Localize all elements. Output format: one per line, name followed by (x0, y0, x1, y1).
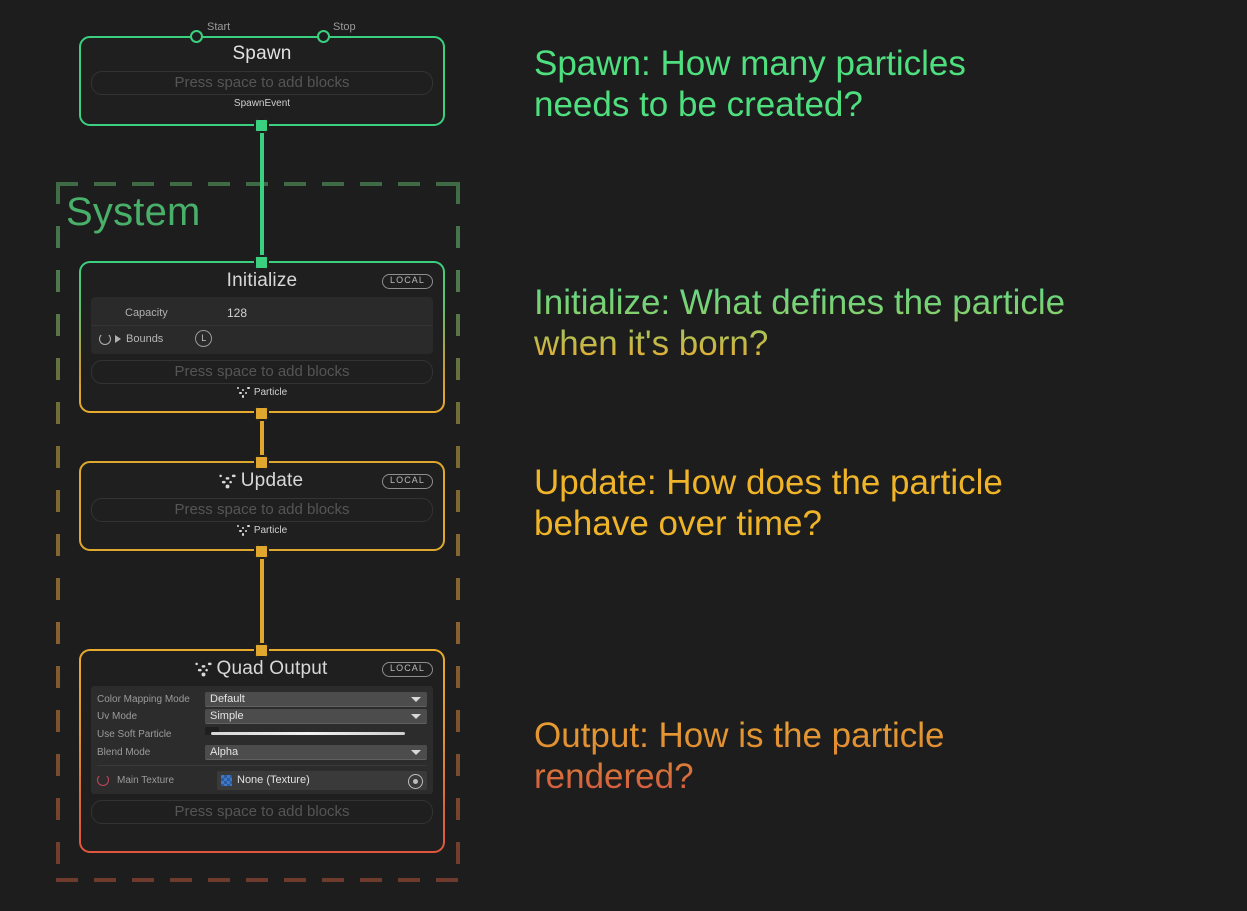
output-add-blocks[interactable]: Press space to add blocks (91, 800, 433, 824)
connector-spawn-out[interactable] (254, 118, 269, 133)
output-title-label: Quad Output (217, 658, 328, 680)
node-quad-output[interactable]: Quad Output LOCAL Color Mapping Mode Def… (79, 649, 445, 853)
chevron-down-icon (411, 697, 421, 702)
refresh-icon[interactable] (99, 333, 111, 345)
main-texture-label: Main Texture (117, 775, 217, 786)
initialize-add-blocks[interactable]: Press space to add blocks (91, 360, 433, 384)
particle-icon (219, 474, 235, 488)
use-soft-particle-toggle[interactable] (205, 727, 427, 742)
texture-thumbnail-icon (221, 775, 232, 786)
divider (97, 765, 427, 766)
main-texture-field[interactable]: None (Texture) (217, 771, 427, 790)
node-spawn[interactable]: Spawn Press space to add blocks SpawnEve… (79, 36, 445, 126)
spawn-footer-label: SpawnEvent (234, 98, 290, 109)
particle-icon (237, 525, 250, 536)
initialize-footer: Particle (81, 384, 443, 398)
node-update[interactable]: Update LOCAL Press space to add blocks P… (79, 461, 445, 551)
uv-mode-value: Simple (210, 710, 244, 722)
output-local-badge: LOCAL (382, 662, 433, 677)
update-footer: Particle (81, 522, 443, 536)
output-properties: Color Mapping Mode Default Uv Mode Simpl… (91, 686, 433, 794)
update-local-badge: LOCAL (382, 474, 433, 489)
color-mapping-mode-dropdown[interactable]: Default (205, 692, 427, 707)
blend-mode-value: Alpha (210, 746, 238, 758)
update-footer-label: Particle (254, 525, 287, 536)
annotation-update: Update: How does the particle behave ove… (534, 463, 1003, 545)
connector-update-in[interactable] (254, 455, 269, 470)
node-initialize[interactable]: Initialize LOCAL Capacity 128 Bounds L P… (79, 261, 445, 413)
object-picker-icon[interactable] (408, 774, 423, 789)
uv-mode-dropdown[interactable]: Simple (205, 709, 427, 724)
initialize-footer-label: Particle (254, 387, 287, 398)
annotation-spawn: Spawn: How many particles needs to be cr… (534, 44, 966, 126)
spawn-title: Spawn (81, 38, 443, 65)
group-border-top (56, 182, 460, 186)
blend-mode-label: Blend Mode (97, 747, 205, 758)
blend-mode-dropdown[interactable]: Alpha (205, 745, 427, 760)
chevron-right-icon[interactable] (115, 335, 121, 343)
main-texture-value: None (Texture) (237, 774, 310, 786)
capacity-label: Capacity (97, 307, 227, 319)
port-stop-label: Stop (333, 21, 356, 33)
initialize-properties: Capacity 128 Bounds L (91, 297, 433, 354)
annotation-output: Output: How is the particle rendered? (534, 716, 944, 798)
capacity-value[interactable]: 128 (227, 306, 247, 320)
initialize-local-badge: LOCAL (382, 274, 433, 289)
property-row-uv-mode[interactable]: Uv Mode Simple (97, 709, 427, 724)
reset-icon[interactable] (97, 774, 109, 786)
group-border-bottom (56, 878, 460, 882)
chevron-down-icon (411, 714, 421, 719)
system-group-label[interactable]: System (66, 190, 201, 235)
color-mapping-mode-label: Color Mapping Mode (97, 694, 205, 705)
port-stop[interactable] (317, 30, 330, 43)
particle-icon (237, 387, 250, 398)
port-start[interactable] (190, 30, 203, 43)
port-start-label: Start (207, 21, 230, 33)
property-row-blend-mode[interactable]: Blend Mode Alpha (97, 745, 427, 760)
update-add-blocks[interactable]: Press space to add blocks (91, 498, 433, 522)
spawn-add-blocks[interactable]: Press space to add blocks (91, 71, 433, 95)
annotation-initialize: Initialize: What defines the particle wh… (534, 283, 1065, 365)
property-row-use-soft-particle[interactable]: Use Soft Particle (97, 726, 427, 743)
property-row-capacity[interactable]: Capacity 128 (91, 300, 433, 325)
toggle-bar (211, 732, 405, 735)
link-update-to-output (260, 548, 264, 652)
chevron-down-icon (411, 750, 421, 755)
color-mapping-mode-value: Default (210, 693, 245, 705)
property-row-main-texture[interactable]: Main Texture None (Texture) (97, 770, 427, 790)
property-row-bounds[interactable]: Bounds L (91, 325, 433, 351)
connector-initialize-in[interactable] (254, 255, 269, 270)
particle-icon (195, 662, 211, 676)
connector-output-in[interactable] (254, 643, 269, 658)
property-row-color-mapping-mode[interactable]: Color Mapping Mode Default (97, 692, 427, 707)
connector-update-out[interactable] (254, 544, 269, 559)
connector-initialize-out[interactable] (254, 406, 269, 421)
update-title-label: Update (241, 470, 303, 492)
link-spawn-to-initialize (260, 122, 264, 262)
spawn-footer: SpawnEvent (81, 95, 443, 109)
bounds-local-badge[interactable]: L (195, 330, 212, 347)
uv-mode-label: Uv Mode (97, 711, 205, 722)
group-border-left (56, 182, 60, 882)
group-border-right (456, 182, 460, 882)
use-soft-particle-label: Use Soft Particle (97, 729, 205, 740)
bounds-label: Bounds (126, 333, 163, 345)
